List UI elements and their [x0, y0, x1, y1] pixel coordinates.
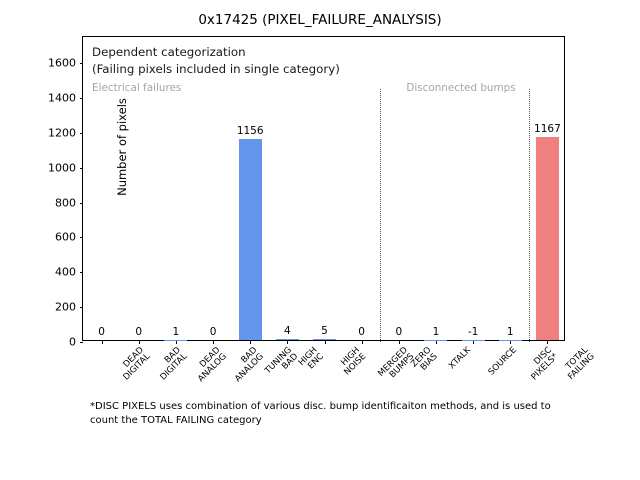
bar-value-label: 1156 [237, 125, 264, 137]
x-tick-mark [176, 340, 177, 344]
x-tick-label: DEAD DIGITAL [115, 346, 152, 383]
divider-electrical-disconnected [380, 89, 381, 342]
bar[interactable] [313, 339, 336, 340]
y-tick-label: 400 [55, 266, 76, 279]
y-tick-mark [80, 307, 84, 308]
bar-value-label: 0 [98, 326, 105, 338]
bar-value-label: 1 [173, 326, 180, 338]
x-tick-label: BAD DIGITAL [153, 346, 190, 383]
y-tick-mark [80, 98, 84, 99]
x-tick-mark [547, 340, 548, 344]
bar-value-label: 0 [210, 326, 217, 338]
bar-value-label: 0 [395, 326, 402, 338]
bar[interactable] [536, 137, 559, 340]
y-tick-label: 1600 [48, 57, 76, 70]
footnote-disc-pixels: *DISC PIXELS uses combination of various… [90, 400, 560, 428]
y-tick-mark [80, 272, 84, 273]
annotation-disconnected-bumps: Disconnected bumps [401, 81, 521, 95]
x-tick-mark [399, 340, 400, 344]
y-tick-label: 1200 [48, 126, 76, 139]
x-tick-label: TOTAL FAILING [561, 346, 597, 382]
annotation-electrical-failures: Electrical failures [92, 82, 181, 94]
y-tick-mark [80, 237, 84, 238]
x-tick-mark [250, 340, 251, 344]
divider-disconnected-total [529, 89, 530, 342]
y-tick-label: 1400 [48, 92, 76, 105]
x-tick-label: HIGH NOISE [336, 346, 368, 378]
x-tick-mark [325, 340, 326, 344]
chart-title: 0x17425 (PIXEL_FAILURE_ANALYSIS) [0, 12, 640, 28]
x-tick-mark [510, 340, 511, 344]
bar-value-label: 1 [433, 326, 440, 338]
pixel-failure-analysis-figure: 0x17425 (PIXEL_FAILURE_ANALYSIS) Number … [0, 0, 640, 480]
x-tick-label: BAD ANALOG [228, 346, 267, 385]
x-tick-mark [436, 340, 437, 344]
x-tick-label: ZERO BIAS [410, 346, 440, 376]
x-tick-label: DEAD ANALOG [190, 346, 229, 385]
x-tick-mark [287, 340, 288, 344]
x-tick-mark [213, 340, 214, 344]
bar-value-label: 1 [507, 326, 514, 338]
x-tick-label: HIGH ENC [298, 346, 327, 375]
bar-value-label: 0 [358, 326, 365, 338]
annotation-dependent-categorization: Dependent categorization (Failing pixels… [92, 44, 340, 78]
bar-value-label: 5 [321, 325, 328, 337]
y-tick-mark [80, 168, 84, 169]
bar-value-label: 0 [135, 326, 142, 338]
y-tick-label: 800 [55, 196, 76, 209]
y-tick-label: 0 [69, 336, 76, 349]
x-tick-label: DISC PIXELS* [524, 346, 561, 383]
y-axis-label: Number of pixels [115, 52, 129, 242]
x-tick-label: MERGED BUMPS [377, 346, 417, 386]
x-tick-label: XTALK [448, 346, 473, 371]
bar[interactable] [239, 139, 262, 340]
x-tick-label: TUNING BAD [264, 346, 301, 383]
x-tick-mark [102, 340, 103, 344]
bar-value-label: 4 [284, 325, 291, 337]
bar[interactable] [276, 339, 299, 340]
plot-area: Number of pixels 02004006008001000120014… [82, 36, 565, 341]
x-tick-mark [473, 340, 474, 344]
y-tick-label: 1000 [48, 161, 76, 174]
y-tick-mark [80, 203, 84, 204]
y-tick-mark [80, 63, 84, 64]
bar-value-label: -1 [468, 326, 478, 338]
y-tick-mark [80, 342, 84, 343]
x-tick-mark [139, 340, 140, 344]
x-tick-label: SOURCE [488, 346, 520, 378]
y-tick-label: 600 [55, 231, 76, 244]
bar-value-label: 1167 [534, 123, 561, 135]
y-tick-label: 200 [55, 301, 76, 314]
y-tick-mark [80, 133, 84, 134]
x-tick-mark [362, 340, 363, 344]
